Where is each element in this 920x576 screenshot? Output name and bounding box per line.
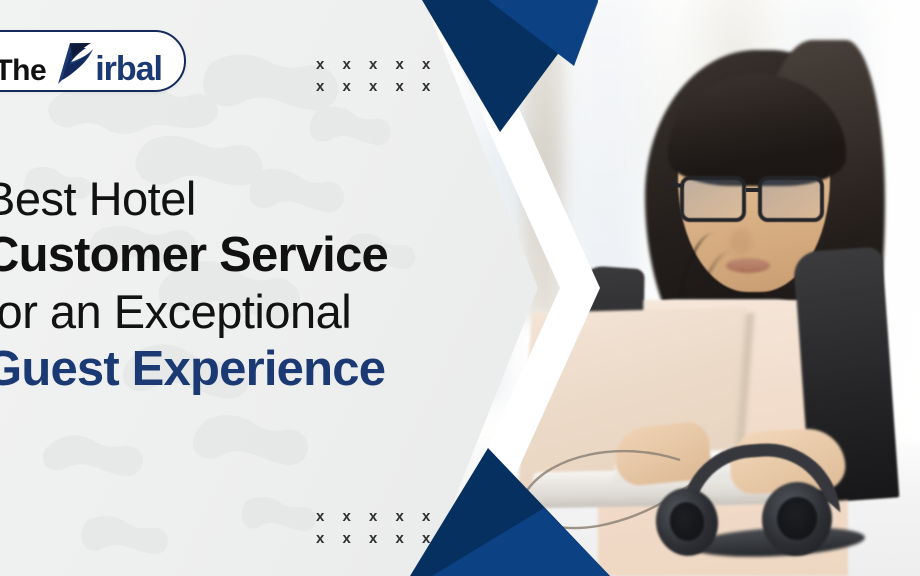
brand-logo-prefix: The bbox=[0, 54, 46, 88]
x-pattern-row: x x x x x bbox=[316, 54, 437, 76]
x-pattern-row: x x x x x bbox=[316, 506, 437, 528]
x-pattern-row: x x x x x bbox=[316, 528, 437, 550]
headline-line-3: for an Exceptional bbox=[0, 284, 504, 340]
triangle-bottom bbox=[410, 442, 610, 576]
brand-logo-text: The irbal bbox=[0, 34, 162, 89]
glasses-bridge bbox=[746, 188, 760, 192]
headline-line-2: Customer Service bbox=[0, 226, 504, 284]
headline-line-4: Guest Experience bbox=[0, 340, 504, 398]
x-pattern-row: x x x x x bbox=[316, 76, 437, 98]
lens-left bbox=[680, 176, 746, 222]
brand-logo-suffix: irbal bbox=[95, 50, 162, 89]
headline-line-1: Best Hotel bbox=[0, 172, 504, 226]
page-title: Best Hotel Customer Service for an Excep… bbox=[0, 172, 504, 398]
banner: The irbal x x x x x x x x x x x x x x x … bbox=[0, 0, 920, 576]
headphones bbox=[650, 440, 880, 560]
x-pattern-top: x x x x x x x x x x bbox=[316, 54, 437, 98]
eyeglasses-icon bbox=[678, 176, 838, 230]
brand-logo[interactable]: The irbal bbox=[0, 30, 186, 92]
x-pattern-bottom: x x x x x x x x x x bbox=[316, 506, 437, 550]
triangle-top bbox=[418, 0, 598, 136]
lens-right bbox=[758, 176, 824, 222]
brand-logo-b-mark bbox=[50, 40, 94, 86]
